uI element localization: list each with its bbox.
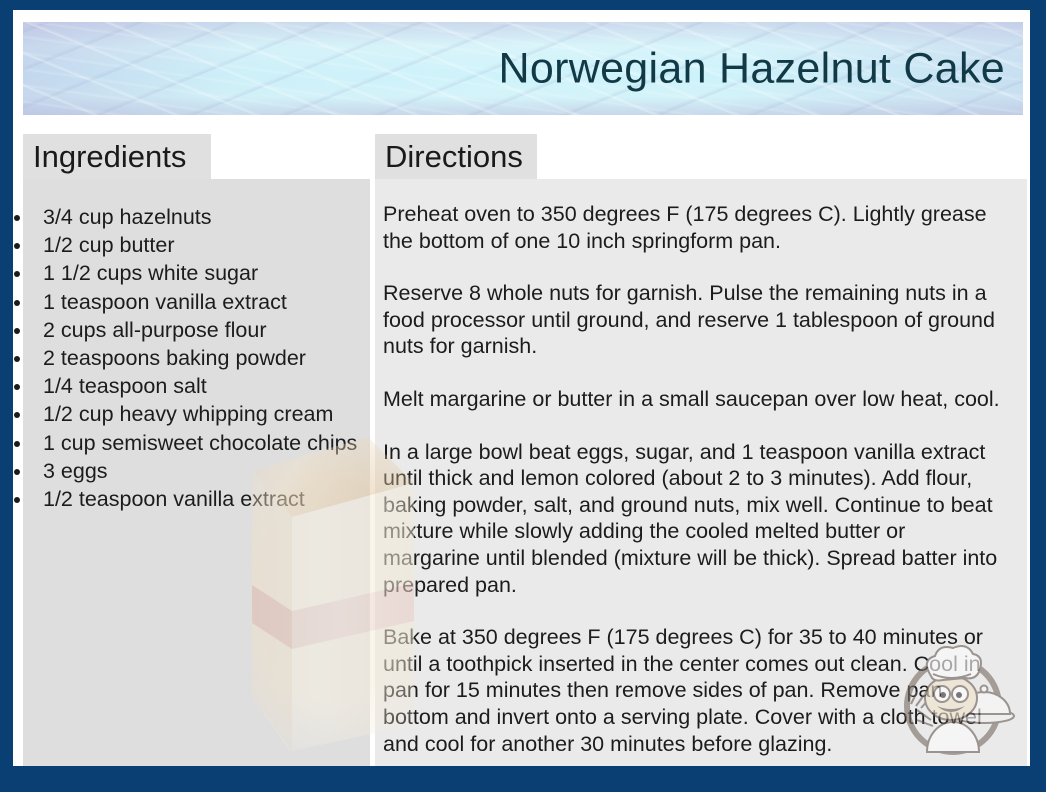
direction-paragraph: Bake at 350 degrees F (175 degrees C) fo… (383, 624, 1023, 757)
directions-body: Preheat oven to 350 degrees F (175 degre… (383, 201, 1023, 766)
direction-paragraph: Melt margarine or butter in a small sauc… (383, 386, 1023, 413)
slide-content-area: Norwegian Hazelnut Cake (13, 10, 1030, 766)
page-title: Norwegian Hazelnut Cake (499, 46, 1005, 91)
list-item: 1 1/2 cups white sugar (33, 259, 370, 287)
ingredients-panel: 3/4 cup hazelnuts 1/2 cup butter 1 1/2 c… (23, 179, 370, 766)
directions-heading-label: Directions (385, 139, 523, 175)
list-item: 3/4 cup hazelnuts (33, 203, 370, 231)
list-item: 1 teaspoon vanilla extract (33, 288, 370, 316)
list-item: 2 teaspoons baking powder (33, 344, 370, 372)
direction-paragraph: Preheat oven to 350 degrees F (175 degre… (383, 201, 1023, 254)
list-item: 1/2 teaspoon vanilla extract (33, 485, 370, 513)
direction-paragraph: Reserve 8 whole nuts for garnish. Pulse … (383, 280, 1023, 360)
directions-heading-tab: Directions (375, 134, 537, 179)
slide-root: Norwegian Hazelnut Cake (0, 0, 1046, 792)
ingredients-heading-tab: Ingredients (23, 134, 211, 179)
list-item: 3 eggs (33, 457, 370, 485)
list-item: 2 cups all-purpose flour (33, 316, 370, 344)
ingredients-list: 3/4 cup hazelnuts 1/2 cup butter 1 1/2 c… (33, 203, 370, 513)
ingredients-heading-label: Ingredients (33, 139, 186, 175)
header-banner: Norwegian Hazelnut Cake (23, 22, 1023, 115)
list-item: 1/2 cup heavy whipping cream (33, 400, 370, 428)
direction-paragraph: In a large bowl beat eggs, sugar, and 1 … (383, 439, 1023, 599)
list-item: 1/2 cup butter (33, 231, 370, 259)
directions-panel: Preheat oven to 350 degrees F (175 degre… (375, 179, 1027, 766)
list-item: 1 cup semisweet chocolate chips (33, 429, 370, 457)
list-item: 1/4 teaspoon salt (33, 372, 370, 400)
